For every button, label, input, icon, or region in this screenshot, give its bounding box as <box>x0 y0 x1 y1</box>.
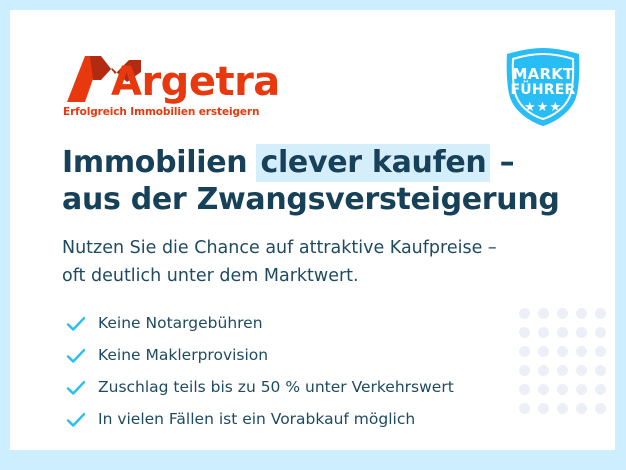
list-item-label: In vielen Fällen ist ein Vorabkauf mögli… <box>98 412 415 428</box>
shield-badge-icon <box>499 46 587 128</box>
decorative-dot <box>557 346 568 357</box>
headline-highlight: clever kaufen <box>256 144 490 182</box>
headline-text-after: – <box>489 145 514 180</box>
list-item-label: Keine Maklerprovision <box>98 348 268 364</box>
check-icon <box>65 345 87 367</box>
decorative-dot <box>595 384 606 395</box>
decorative-dot <box>538 365 549 376</box>
decorative-dot <box>557 384 568 395</box>
check-icon <box>65 313 87 335</box>
decorative-dot <box>595 403 606 414</box>
decorative-dot <box>538 327 549 338</box>
argetra-logo[interactable]: Argetra Erfolgreich Immobilien ersteiger… <box>63 52 223 120</box>
headline-line-1: Immobilien clever kaufen – <box>62 144 532 181</box>
list-item: In vielen Fällen ist ein Vorabkauf mögli… <box>65 404 535 435</box>
check-icon <box>65 409 87 431</box>
decorative-dot <box>595 308 606 319</box>
decorative-dot <box>576 308 587 319</box>
promo-banner: Argetra Erfolgreich Immobilien ersteiger… <box>0 0 626 470</box>
benefit-checklist: Keine NotargebührenKeine Maklerprovision… <box>65 308 535 436</box>
check-icon <box>65 377 87 399</box>
list-item: Keine Notargebühren <box>65 308 535 339</box>
headline-line-2: aus der Zwangsversteigerung <box>62 181 532 218</box>
decorative-dot <box>595 365 606 376</box>
page-title: Immobilien clever kaufen – aus der Zwang… <box>62 144 532 218</box>
decorative-dot <box>557 308 568 319</box>
list-item-label: Zuschlag teils bis zu 50 % unter Verkehr… <box>98 380 454 396</box>
headline-text-before: Immobilien <box>62 145 257 180</box>
decorative-dot <box>576 346 587 357</box>
decorative-dot <box>595 327 606 338</box>
decorative-dot <box>557 403 568 414</box>
subtitle: Nutzen Sie die Chance auf attraktive Kau… <box>62 234 562 291</box>
decorative-dot <box>538 403 549 414</box>
decorative-dot <box>538 384 549 395</box>
decorative-dot <box>576 384 587 395</box>
market-leader-badge: MARKT FÜHRER ★★★ <box>499 46 587 128</box>
logo-tagline: Erfolgreich Immobilien ersteigern <box>63 106 259 118</box>
decorative-dot <box>595 346 606 357</box>
banner-card: Argetra Erfolgreich Immobilien ersteiger… <box>10 10 615 450</box>
decorative-dot <box>576 365 587 376</box>
decorative-dot <box>576 327 587 338</box>
decorative-dot <box>576 403 587 414</box>
subtitle-line-2: oft deutlich unter dem Marktwert. <box>62 262 562 290</box>
list-item-label: Keine Notargebühren <box>98 316 263 332</box>
decorative-dot <box>538 308 549 319</box>
decorative-dot <box>538 346 549 357</box>
subtitle-line-1: Nutzen Sie die Chance auf attraktive Kau… <box>62 234 562 262</box>
decorative-dot <box>557 327 568 338</box>
logo-wordmark: Argetra <box>111 62 280 102</box>
list-item: Keine Maklerprovision <box>65 340 535 371</box>
list-item: Zuschlag teils bis zu 50 % unter Verkehr… <box>65 372 535 403</box>
decorative-dot <box>557 365 568 376</box>
